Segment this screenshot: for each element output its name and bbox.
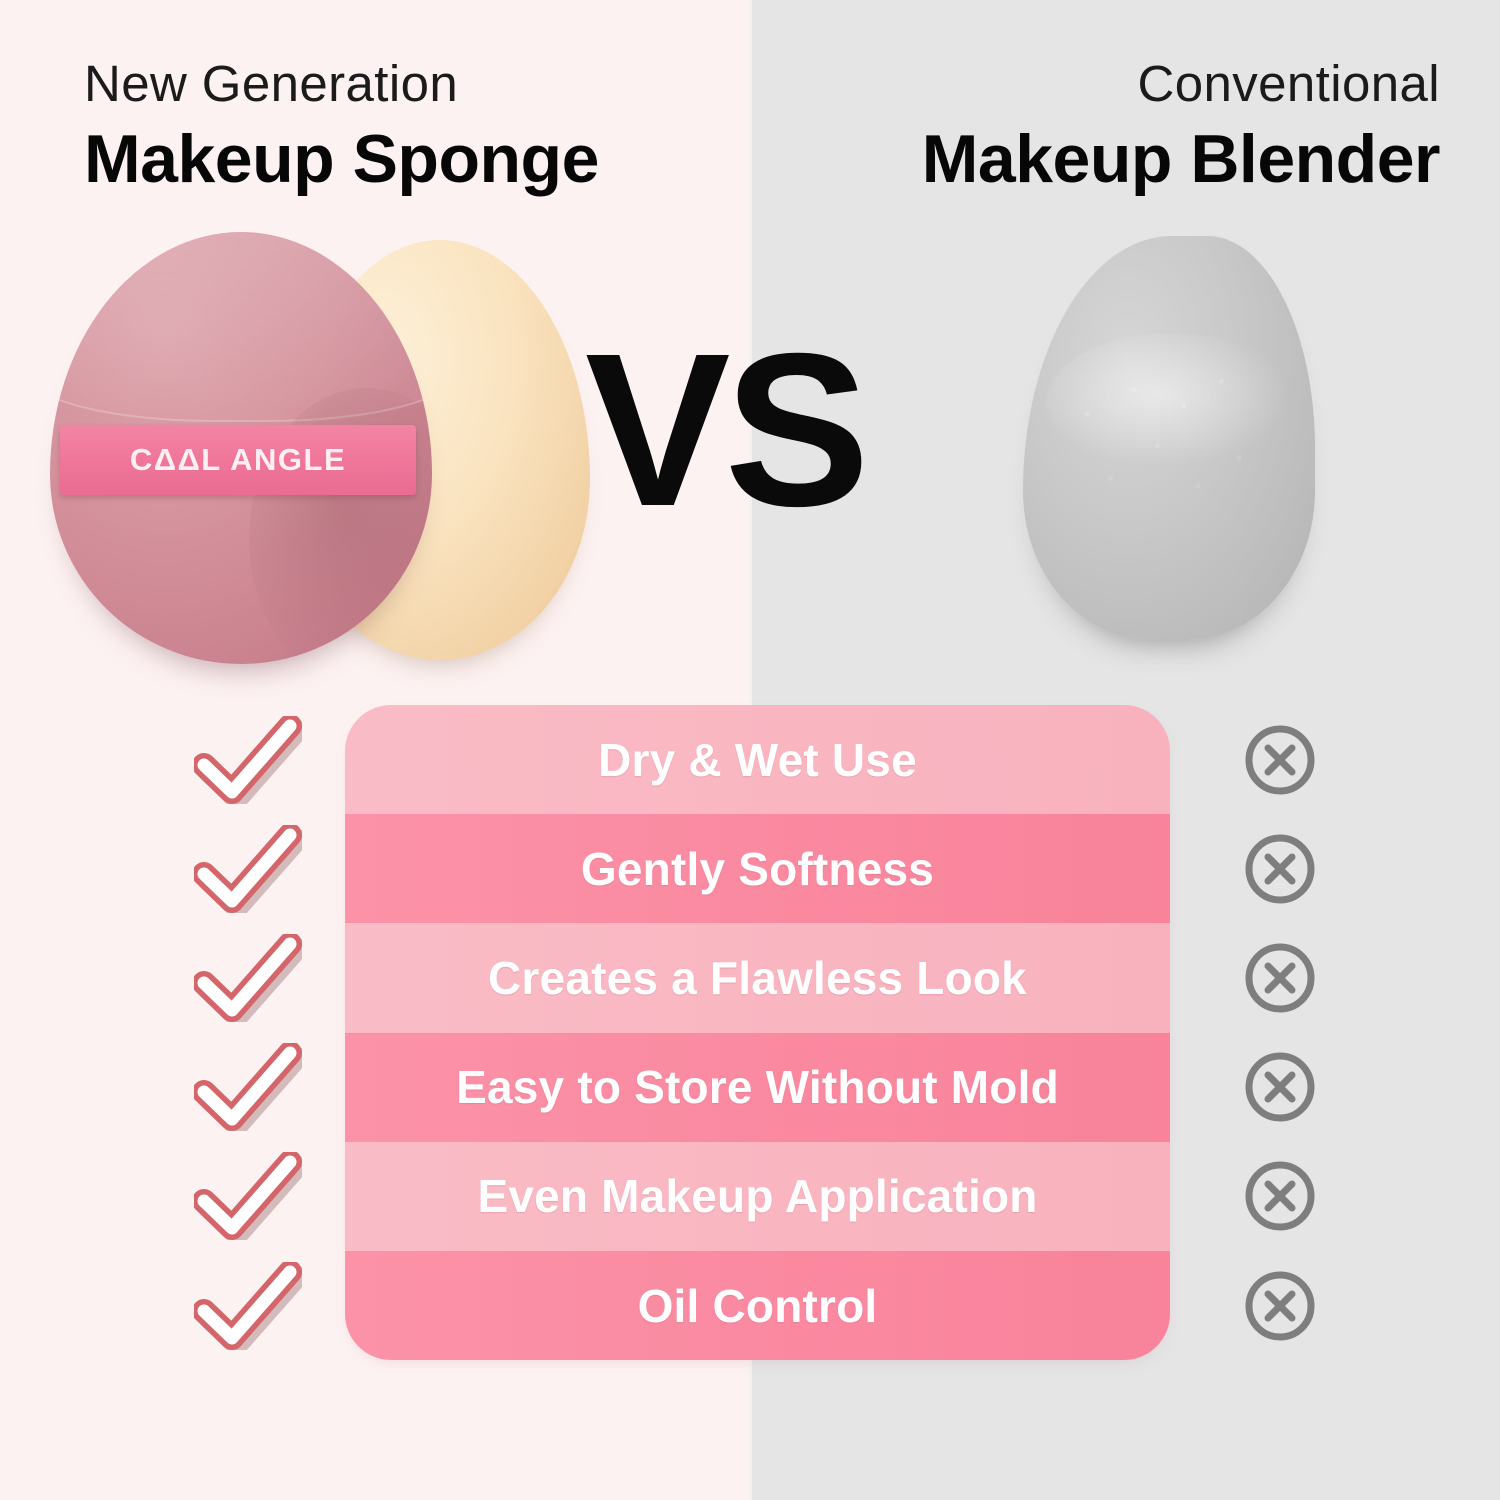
- cross-mark-cell: [1200, 705, 1360, 814]
- brand-ribbon-label: CΔΔL ANGLE: [60, 425, 416, 495]
- feature-row: Creates a Flawless Look: [345, 923, 1170, 1032]
- pink-sponge-product-image: CΔΔL ANGLE: [40, 222, 600, 692]
- cross-mark-cell: [1200, 1142, 1360, 1251]
- cross-mark-cell: [1200, 1251, 1360, 1360]
- check-mark-cell: [168, 923, 328, 1032]
- right-panel-header: Conventional Makeup Blender: [790, 58, 1450, 193]
- cross-circle-icon: [1242, 1049, 1318, 1125]
- feature-row: Easy to Store Without Mold: [345, 1033, 1170, 1142]
- feature-row-label: Creates a Flawless Look: [488, 951, 1027, 1005]
- feature-row-label: Oil Control: [638, 1279, 878, 1333]
- versus-label: VS: [585, 322, 864, 540]
- check-mark-cell: [168, 1251, 328, 1360]
- feature-row-label: Easy to Store Without Mold: [456, 1060, 1059, 1114]
- check-mark-cell: [168, 1033, 328, 1142]
- gray-blender-product-image: [1005, 228, 1345, 648]
- cross-circle-icon: [1242, 940, 1318, 1016]
- left-panel-header: New Generation Makeup Sponge: [40, 58, 700, 193]
- check-icon: [194, 825, 302, 913]
- check-icon: [194, 1152, 302, 1240]
- check-mark-cell: [168, 814, 328, 923]
- check-mark-cell: [168, 705, 328, 814]
- check-icon: [194, 1043, 302, 1131]
- cross-circle-icon: [1242, 722, 1318, 798]
- feature-row: Even Makeup Application: [345, 1142, 1170, 1251]
- right-header-title: Makeup Blender: [790, 125, 1450, 193]
- check-icon: [194, 1262, 302, 1350]
- cross-circle-icon: [1242, 1268, 1318, 1344]
- feature-row-label: Dry & Wet Use: [598, 733, 917, 787]
- left-header-title: Makeup Sponge: [40, 125, 700, 193]
- left-header-kicker: New Generation: [40, 58, 700, 109]
- check-mark-column: [168, 705, 328, 1360]
- brand-ribbon-text: CΔΔL ANGLE: [130, 442, 346, 478]
- feature-row-label: Gently Softness: [581, 842, 934, 896]
- cross-mark-cell: [1200, 814, 1360, 923]
- cross-mark-column: [1200, 705, 1360, 1360]
- feature-row: Gently Softness: [345, 814, 1170, 923]
- check-icon: [194, 934, 302, 1022]
- check-mark-cell: [168, 1142, 328, 1251]
- cross-circle-icon: [1242, 1158, 1318, 1234]
- feature-row: Oil Control: [345, 1251, 1170, 1360]
- feature-row-label: Even Makeup Application: [477, 1169, 1037, 1223]
- comparison-feature-card: Dry & Wet UseGently SoftnessCreates a Fl…: [345, 705, 1170, 1360]
- cross-mark-cell: [1200, 1033, 1360, 1142]
- feature-row: Dry & Wet Use: [345, 705, 1170, 814]
- gray-beauty-blender-icon: [1023, 236, 1315, 640]
- cross-mark-cell: [1200, 923, 1360, 1032]
- right-header-kicker: Conventional: [790, 58, 1450, 109]
- cross-circle-icon: [1242, 831, 1318, 907]
- check-icon: [194, 716, 302, 804]
